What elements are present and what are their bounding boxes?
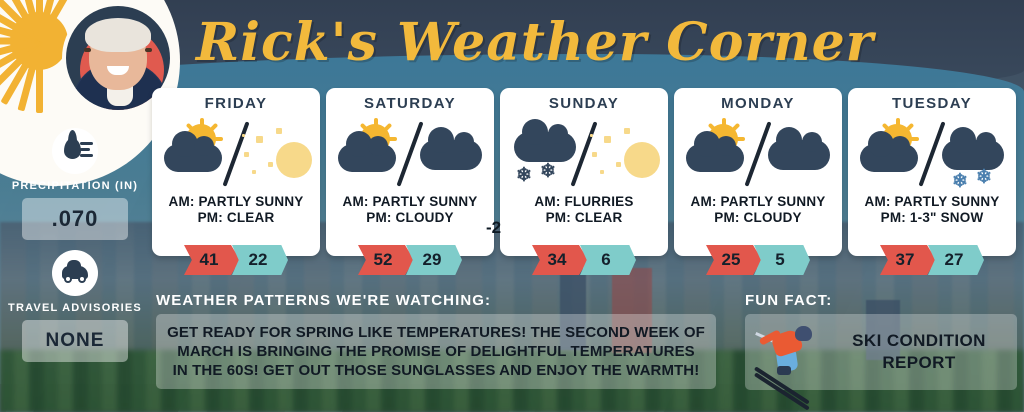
forecast-card-monday[interactable]: MONDAY xyxy=(674,88,842,256)
travel-advisories-value: NONE xyxy=(22,320,128,362)
sidebar-item-travel-advisories: TRAVEL ADVISORIES NONE xyxy=(0,250,150,362)
precipitation-value: .070 xyxy=(22,198,128,240)
weather-icons: ❄ ❄ xyxy=(500,112,668,194)
forecast-card-saturday[interactable]: SATURDAY xyxy=(326,88,494,256)
weather-icons xyxy=(674,112,842,194)
pm-forecast: PM: CLOUDY xyxy=(674,210,842,226)
high-temp: 52 xyxy=(358,245,414,275)
am-forecast: AM: PARTLY SUNNY xyxy=(326,194,494,210)
cloud-icon xyxy=(414,122,488,188)
low-temp: 27 xyxy=(928,245,984,275)
high-temp: 34 xyxy=(532,245,588,275)
cloud-icon xyxy=(762,122,836,188)
snow-cloud-icon: ❄ ❄ xyxy=(508,122,582,188)
weather-icons xyxy=(152,112,320,194)
car-icon xyxy=(52,250,98,296)
weather-icons xyxy=(326,112,494,194)
pm-forecast: PM: 1-3" SNOW xyxy=(848,210,1016,226)
forecast-card-tuesday[interactable]: TUESDAY ❄ ❄ xyxy=(848,88,1016,256)
weather-patterns-line2: MARCH IS BRINGING THE PROMISE OF DELIGHT… xyxy=(166,342,706,361)
day-label: SATURDAY xyxy=(326,88,494,112)
am-forecast: AM: PARTLY SUNNY xyxy=(152,194,320,210)
high-temp: 41 xyxy=(184,245,240,275)
pm-forecast: PM: CLOUDY xyxy=(326,210,494,226)
weather-patterns-line3: IN THE 60S! GET OUT THOSE SUNGLASSES AND… xyxy=(166,361,706,380)
fun-fact-line2: REPORT xyxy=(829,352,1009,374)
day-label: SUNDAY xyxy=(500,88,668,112)
sidebar-item-precipitation: PRECIPITATION (IN) .070 xyxy=(0,128,150,240)
sidebar: PRECIPITATION (IN) .070 TRAVEL ADVISORIE… xyxy=(0,128,150,372)
fun-fact-section: FUN FACT: SKI CONDITION REPORT xyxy=(745,292,1017,390)
pm-forecast: PM: CLEAR xyxy=(500,210,668,226)
precipitation-droplet-icon xyxy=(52,128,98,174)
temperature-badges: 41 22 xyxy=(184,245,288,275)
sun-behind-cloud-icon xyxy=(160,122,234,188)
weather-patterns-panel: GET READY FOR SPRING LIKE TEMPERATURES! … xyxy=(156,314,716,389)
fun-fact-text: SKI CONDITION REPORT xyxy=(829,330,1009,374)
fun-fact-panel[interactable]: SKI CONDITION REPORT xyxy=(745,314,1017,390)
fun-fact-line1: SKI CONDITION xyxy=(829,330,1009,352)
low-temp: 22 xyxy=(232,245,288,275)
forecast-card-sunday[interactable]: SUNDAY ❄ ❄ xyxy=(500,88,668,256)
high-temp: 37 xyxy=(880,245,936,275)
fun-fact-title: FUN FACT: xyxy=(745,292,1017,309)
am-forecast: AM: PARTLY SUNNY xyxy=(674,194,842,210)
day-label: FRIDAY xyxy=(152,88,320,112)
day-label: TUESDAY xyxy=(848,88,1016,112)
crescent-moon-stars-icon xyxy=(240,122,314,188)
am-forecast: AM: PARTLY SUNNY xyxy=(848,194,1016,210)
temperature-badges: 37 27 xyxy=(880,245,984,275)
sun-behind-cloud-icon xyxy=(682,122,756,188)
crescent-moon-stars-icon xyxy=(588,122,662,188)
am-forecast: AM: FLURRIES xyxy=(500,194,668,210)
sun-behind-cloud-icon xyxy=(334,122,408,188)
weather-patterns-section: WEATHER PATTERNS WE'RE WATCHING: GET REA… xyxy=(156,292,716,389)
pm-forecast: PM: CLEAR xyxy=(152,210,320,226)
weather-patterns-title: WEATHER PATTERNS WE'RE WATCHING: xyxy=(156,292,716,309)
forecast-row: FRIDAY xyxy=(152,88,1024,256)
weather-patterns-line1: GET READY FOR SPRING LIKE TEMPERATURES! … xyxy=(166,323,706,342)
precipitation-label: PRECIPITATION (IN) xyxy=(0,180,150,192)
low-temp: 29 xyxy=(406,245,462,275)
stray-overflow-text: -2 xyxy=(486,218,501,238)
temperature-badges: 34 6 xyxy=(532,245,636,275)
page-title: Rick's Weather Corner xyxy=(196,14,676,72)
temperature-badges: 52 29 xyxy=(358,245,462,275)
snow-cloud-icon: ❄ ❄ xyxy=(936,122,1010,188)
forecast-card-friday[interactable]: FRIDAY xyxy=(152,88,320,256)
high-temp: 25 xyxy=(706,245,762,275)
day-label: MONDAY xyxy=(674,88,842,112)
temperature-badges: 25 5 xyxy=(706,245,810,275)
skier-icon xyxy=(753,318,825,386)
sun-behind-cloud-icon xyxy=(856,122,930,188)
weather-graphic: Rick's Weather Corner PRECIPITATION (IN)… xyxy=(0,0,1024,412)
low-temp: 6 xyxy=(580,245,636,275)
low-temp: 5 xyxy=(754,245,810,275)
weather-icons: ❄ ❄ xyxy=(848,112,1016,194)
travel-advisories-label: TRAVEL ADVISORIES xyxy=(0,302,150,314)
